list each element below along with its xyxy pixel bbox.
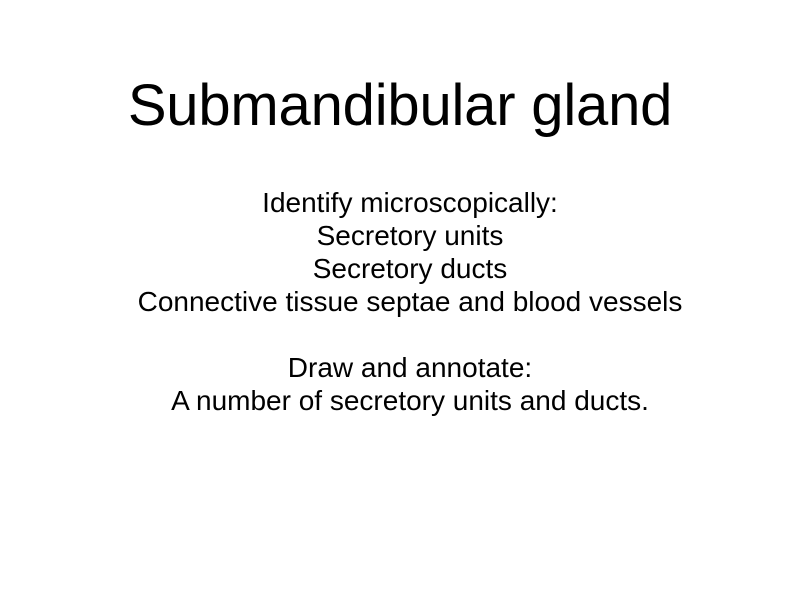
slide-canvas: Submandibular gland Identify microscopic… <box>0 0 800 600</box>
slide-body: Identify microscopically: Secretory unit… <box>0 186 800 417</box>
body-line-connective-tissue-septae: Connective tissue septae and blood vesse… <box>20 285 800 318</box>
page-title: Submandibular gland <box>0 73 800 139</box>
body-line-identify-microscopically: Identify microscopically: <box>20 186 800 219</box>
body-line-draw-and-annotate: Draw and annotate: <box>20 351 800 384</box>
body-line-secretory-units: Secretory units <box>20 219 800 252</box>
body-line-spacer <box>20 318 800 351</box>
body-line-number-of-secretory-units: A number of secretory units and ducts. <box>20 384 800 417</box>
body-line-secretory-ducts: Secretory ducts <box>20 252 800 285</box>
